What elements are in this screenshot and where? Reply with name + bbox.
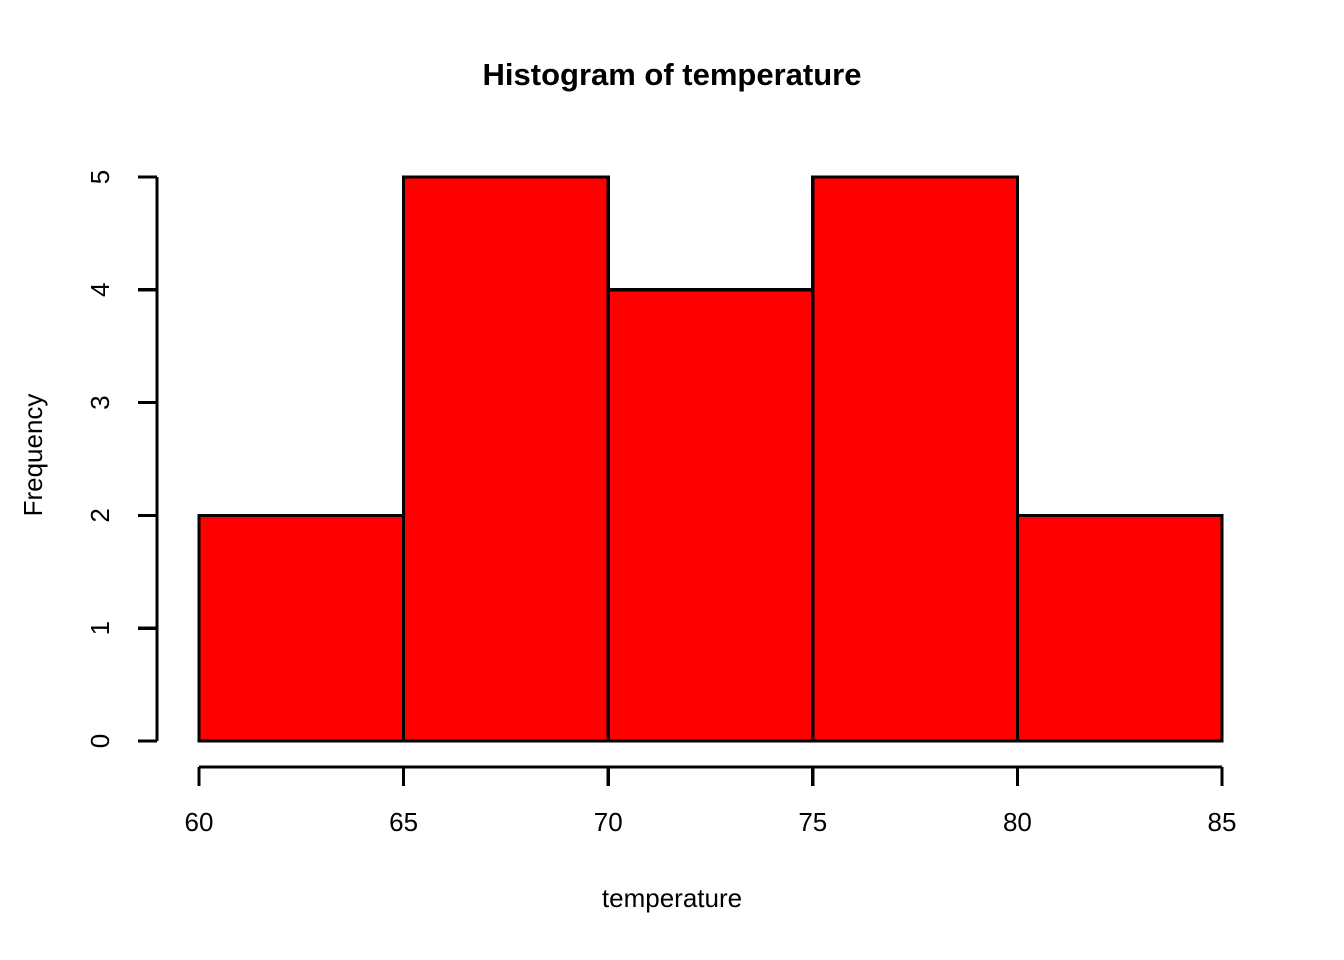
y-tick-label: 4 xyxy=(85,283,115,297)
x-tick-label: 70 xyxy=(594,807,623,837)
y-tick-label: 3 xyxy=(85,395,115,409)
y-tick-label: 2 xyxy=(85,508,115,522)
histogram-bar xyxy=(1017,515,1222,741)
y-axis xyxy=(138,177,157,741)
histogram-plot: Histogram of temperature Frequency tempe… xyxy=(0,0,1344,960)
x-tick-label: 80 xyxy=(1003,807,1032,837)
y-tick-label: 1 xyxy=(85,621,115,635)
y-tick-labels: 012345 xyxy=(85,170,115,748)
x-tick-labels: 606570758085 xyxy=(185,807,1237,837)
histogram-bar xyxy=(813,177,1018,741)
histogram-bar xyxy=(199,515,404,741)
chart-canvas: 012345 606570758085 xyxy=(0,0,1344,960)
histogram-bar xyxy=(404,177,609,741)
y-tick-label: 5 xyxy=(85,170,115,184)
y-tick-label: 0 xyxy=(85,734,115,748)
x-tick-label: 85 xyxy=(1208,807,1237,837)
histogram-bar xyxy=(608,290,813,741)
x-tick-label: 65 xyxy=(389,807,418,837)
x-tick-label: 60 xyxy=(185,807,214,837)
x-axis xyxy=(199,767,1222,786)
bars-group xyxy=(199,177,1222,741)
x-tick-label: 75 xyxy=(798,807,827,837)
